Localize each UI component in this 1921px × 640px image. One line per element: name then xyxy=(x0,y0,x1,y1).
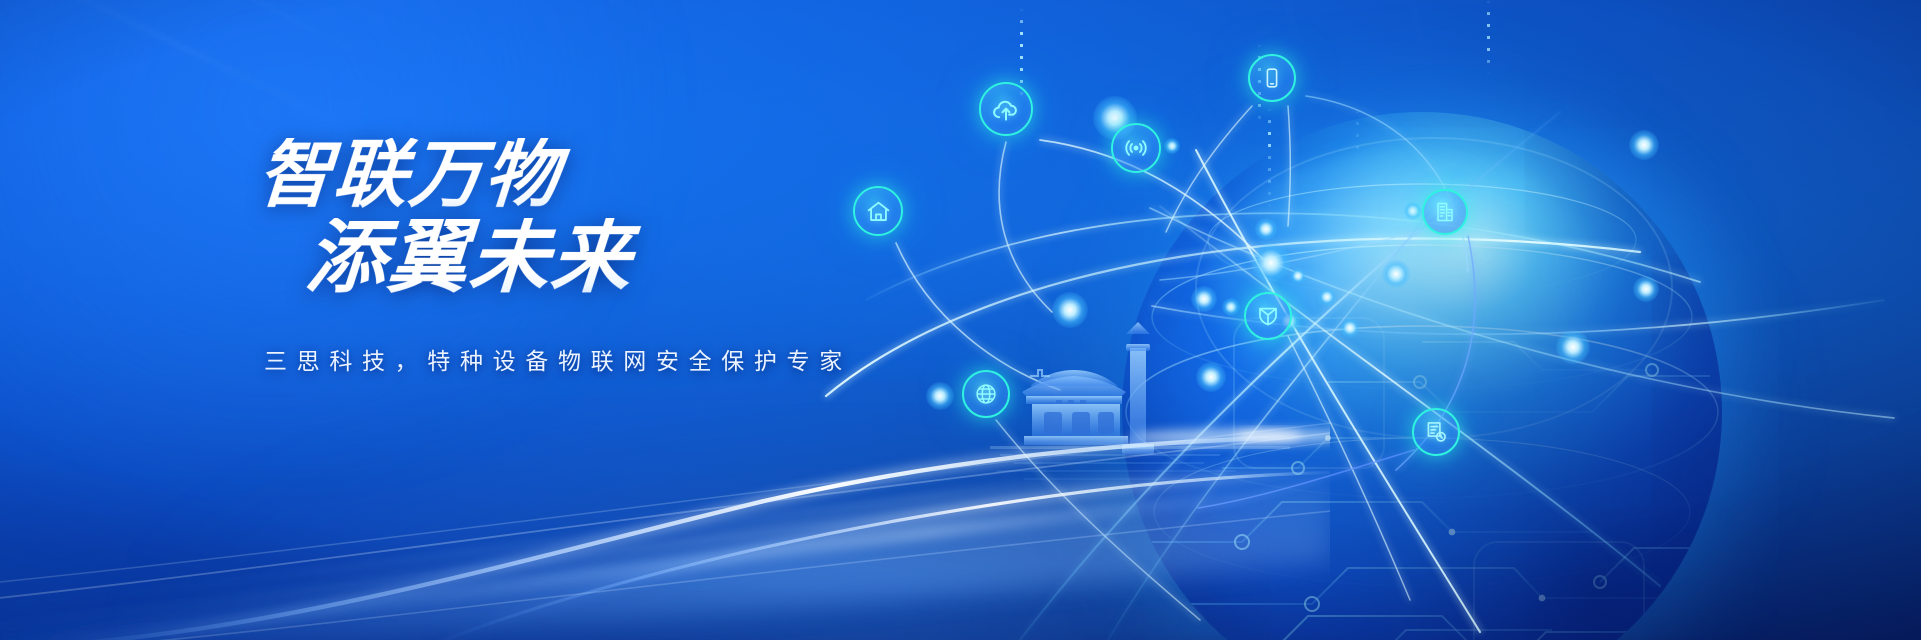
building-glyph xyxy=(1433,200,1457,224)
report-document-glyph xyxy=(1423,419,1449,445)
sky-streak xyxy=(1384,0,1436,109)
mobile-phone-glyph xyxy=(1260,66,1284,90)
hero-subtitle: 三思科技，特种设备物联网安全保护专家 xyxy=(264,342,1050,376)
building-icon[interactable] xyxy=(1422,189,1468,235)
headline-line-2: 添翼未来 xyxy=(303,218,1053,298)
report-document-icon[interactable] xyxy=(1412,408,1460,456)
network-node xyxy=(926,382,954,410)
sky-streak xyxy=(450,0,711,57)
globe-network-glyph xyxy=(973,381,999,407)
wifi-signal-glyph xyxy=(1122,134,1150,162)
dotted-data-line xyxy=(1487,0,1490,74)
shield-icon[interactable] xyxy=(1244,292,1292,340)
globe-graphic xyxy=(1122,112,1722,640)
shield-glyph xyxy=(1255,303,1281,329)
network-node xyxy=(1052,292,1088,328)
sky-streak xyxy=(0,0,359,134)
globe-rim-light xyxy=(1122,112,1722,640)
cloud-upload-glyph xyxy=(991,94,1021,124)
hero-copy: 智联万物 添翼未来 三思科技，特种设备物联网安全保护专家 xyxy=(250,138,1050,376)
cloud-upload-icon[interactable] xyxy=(979,82,1033,136)
sky-streak xyxy=(81,0,400,76)
wifi-signal-icon[interactable] xyxy=(1111,123,1161,173)
globe-network-icon[interactable] xyxy=(962,370,1010,418)
mobile-phone-icon[interactable] xyxy=(1248,54,1296,102)
hero-banner: 智联万物 添翼未来 三思科技，特种设备物联网安全保护专家 xyxy=(0,0,1921,640)
headline-line-1: 智联万物 xyxy=(255,138,1052,212)
pagoda-silhouette xyxy=(1022,370,1128,445)
